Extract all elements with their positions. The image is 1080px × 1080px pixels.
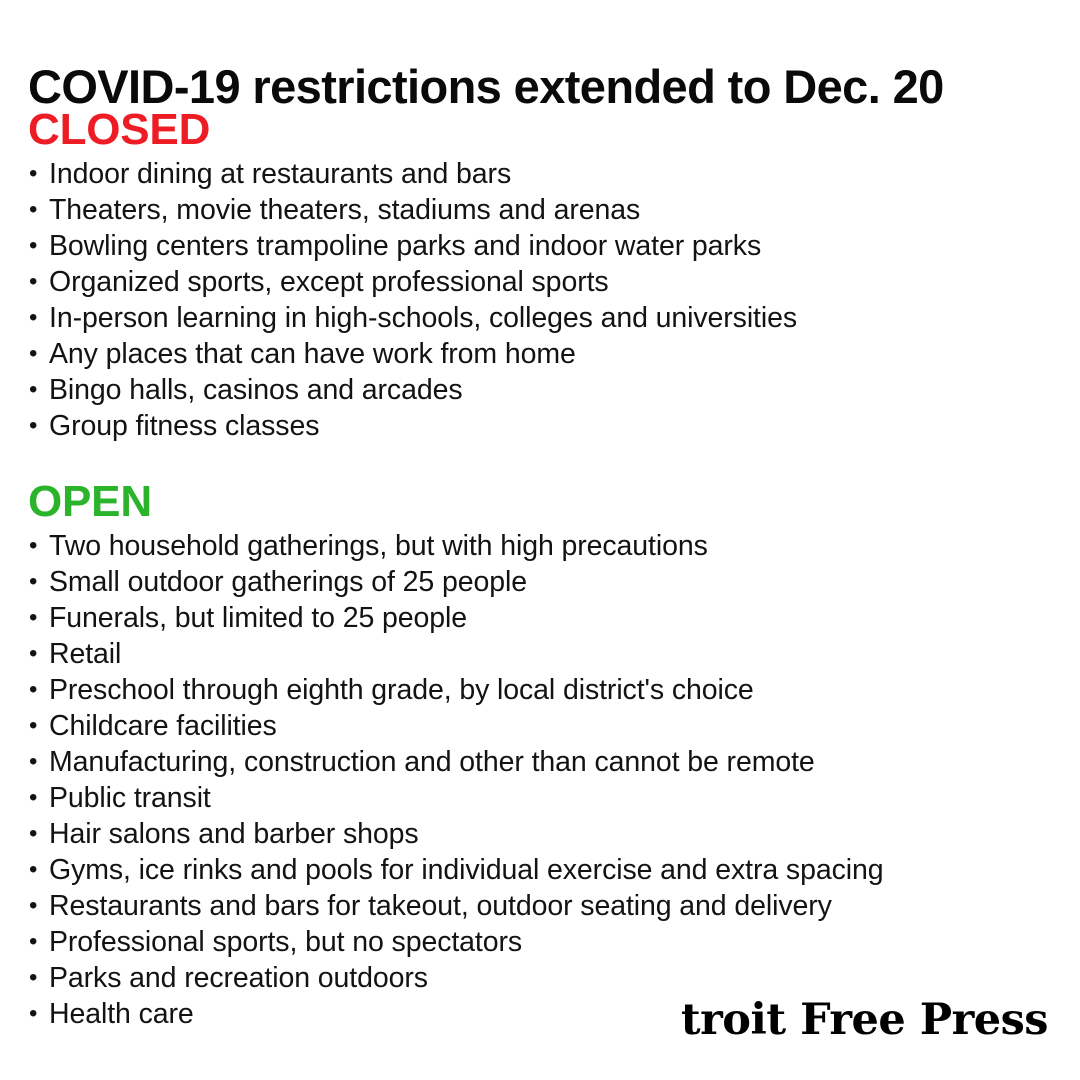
list-item: •Theaters, movie theaters, stadiums and … (28, 192, 1060, 228)
list-item: •Bowling centers trampoline parks and in… (28, 228, 1060, 264)
bullet-icon: • (29, 528, 37, 564)
list-item-label: Parks and recreation outdoors (49, 962, 428, 994)
list-item-label: Public transit (49, 782, 211, 814)
section-heading-closed: CLOSED (28, 106, 1060, 154)
list-item-label: Any places that can have work from home (49, 338, 576, 370)
list-item-label: Retail (49, 638, 121, 670)
section-closed: CLOSED •Indoor dining at restaurants and… (28, 106, 1060, 444)
bullet-icon: • (29, 672, 37, 708)
list-item: •Restaurants and bars for takeout, outdo… (28, 888, 1060, 924)
bullet-icon: • (29, 780, 37, 816)
list-item: •Childcare facilities (28, 708, 1060, 744)
list-item: •Group fitness classes (28, 408, 1060, 444)
list-item-label: Indoor dining at restaurants and bars (49, 158, 511, 190)
bullet-icon: • (29, 192, 37, 228)
bullet-icon: • (29, 600, 37, 636)
list-item-label: Theaters, movie theaters, stadiums and a… (49, 194, 640, 226)
list-item: •Gyms, ice rinks and pools for individua… (28, 852, 1060, 888)
list-item: •Small outdoor gatherings of 25 people (28, 564, 1060, 600)
list-item: •Any places that can have work from home (28, 336, 1060, 372)
bullet-icon: • (29, 852, 37, 888)
list-item-label: Two household gatherings, but with high … (49, 530, 708, 562)
detroit-free-press-logo: Detroit Free Press (682, 990, 1048, 1046)
list-item-label: Bingo halls, casinos and arcades (49, 374, 462, 406)
infographic-canvas: COVID-19 restrictions extended to Dec. 2… (0, 0, 1080, 1080)
list-item: •Manufacturing, construction and other t… (28, 744, 1060, 780)
closed-bullet-list: •Indoor dining at restaurants and bars•T… (28, 156, 1060, 444)
svg-text:Detroit Free Press: Detroit Free Press (682, 995, 1048, 1045)
bullet-icon: • (29, 372, 37, 408)
bullet-icon: • (29, 708, 37, 744)
list-item-label: Health care (49, 998, 194, 1030)
bullet-icon: • (29, 408, 37, 444)
list-item: •In-person learning in high-schools, col… (28, 300, 1060, 336)
bullet-icon: • (29, 996, 37, 1032)
list-item-label: Organized sports, except professional sp… (49, 266, 609, 298)
list-item: •Professional sports, but no spectators (28, 924, 1060, 960)
open-bullet-list: •Two household gatherings, but with high… (28, 528, 1060, 1032)
bullet-icon: • (29, 888, 37, 924)
list-item-label: Restaurants and bars for takeout, outdoo… (49, 890, 832, 922)
list-item: •Organized sports, except professional s… (28, 264, 1060, 300)
list-item: •Funerals, but limited to 25 people (28, 600, 1060, 636)
list-item-label: Bowling centers trampoline parks and ind… (49, 230, 761, 262)
section-open: OPEN •Two household gatherings, but with… (28, 478, 1060, 1032)
list-item-label: Gyms, ice rinks and pools for individual… (49, 854, 883, 886)
list-item-label: Funerals, but limited to 25 people (49, 602, 467, 634)
section-heading-open: OPEN (28, 478, 1060, 526)
bullet-icon: • (29, 228, 37, 264)
list-item-label: Manufacturing, construction and other th… (49, 746, 815, 778)
bullet-icon: • (29, 336, 37, 372)
list-item-label: Professional sports, but no spectators (49, 926, 522, 958)
list-item-label: Hair salons and barber shops (49, 818, 419, 850)
bullet-icon: • (29, 156, 37, 192)
bullet-icon: • (29, 264, 37, 300)
list-item-label: Childcare facilities (49, 710, 277, 742)
list-item: •Bingo halls, casinos and arcades (28, 372, 1060, 408)
bullet-icon: • (29, 816, 37, 852)
list-item: •Retail (28, 636, 1060, 672)
list-item-label: Group fitness classes (49, 410, 319, 442)
bullet-icon: • (29, 300, 37, 336)
list-item: •Public transit (28, 780, 1060, 816)
list-item: •Hair salons and barber shops (28, 816, 1060, 852)
list-item-label: Preschool through eighth grade, by local… (49, 674, 754, 706)
bullet-icon: • (29, 924, 37, 960)
bullet-icon: • (29, 744, 37, 780)
list-item: •Two household gatherings, but with high… (28, 528, 1060, 564)
bullet-icon: • (29, 564, 37, 600)
bullet-icon: • (29, 636, 37, 672)
list-item-label: Small outdoor gatherings of 25 people (49, 566, 527, 598)
list-item: •Preschool through eighth grade, by loca… (28, 672, 1060, 708)
list-item-label: In-person learning in high-schools, coll… (49, 302, 797, 334)
bullet-icon: • (29, 960, 37, 996)
list-item: •Indoor dining at restaurants and bars (28, 156, 1060, 192)
